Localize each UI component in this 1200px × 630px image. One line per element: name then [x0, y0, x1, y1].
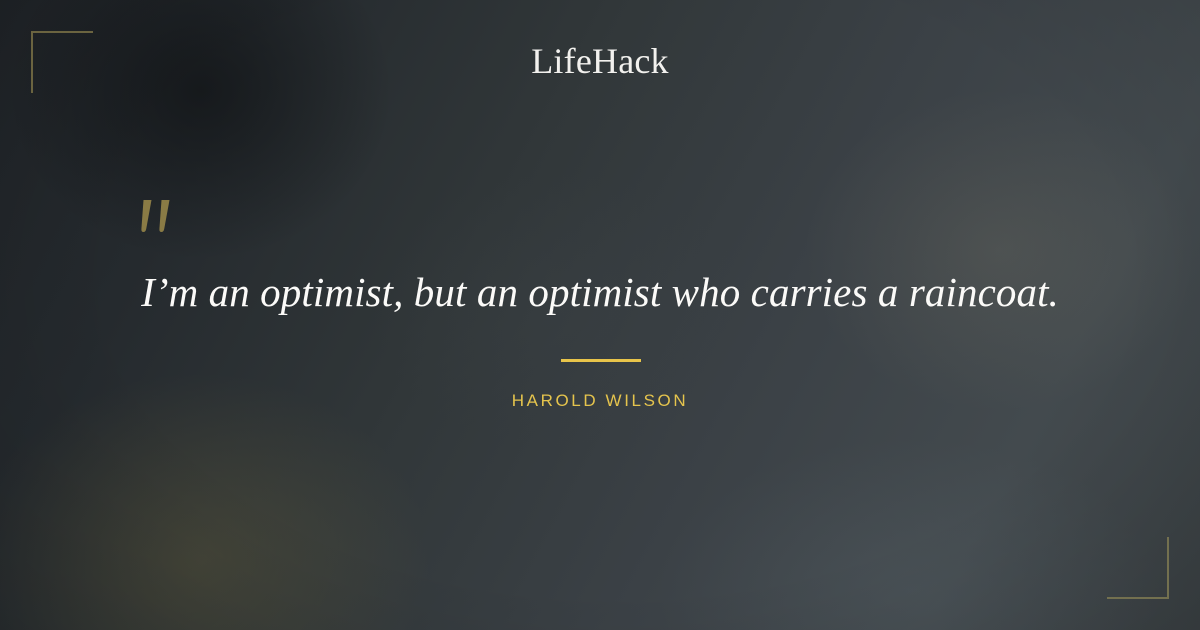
corner-bracket-bottom-right-icon — [1107, 537, 1169, 599]
quote-card: LifeHack I’m an optimist, but an optimis… — [0, 0, 1200, 630]
quote-mark-icon — [133, 196, 185, 244]
quote-text: I’m an optimist, but an optimist who car… — [0, 266, 1200, 318]
attribution-divider — [561, 359, 641, 362]
quote-author: HAROLD WILSON — [0, 390, 1200, 412]
brand-logo: LifeHack — [0, 41, 1200, 81]
